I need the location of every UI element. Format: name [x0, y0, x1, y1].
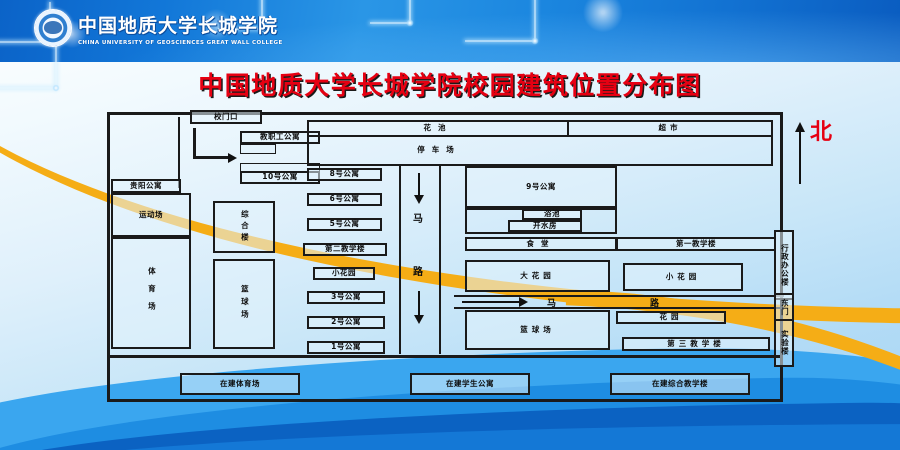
map-supermarket[interactable]: 超市	[569, 121, 771, 135]
road-label-vertical-2: 路	[413, 263, 423, 278]
road-west-edge	[399, 166, 401, 354]
map-boiler-room[interactable]: 开水房	[508, 220, 582, 232]
map-apartment-1[interactable]: 1号公寓	[307, 341, 385, 354]
logo-chinese-name: 中国地质大学长城学院	[78, 11, 283, 38]
poster-stage: 中国地质大学长城学院 CHINA UNIVERSITY OF GEOSCIENC…	[0, 0, 900, 450]
h-road-label-1: 马	[547, 296, 556, 309]
map-guiyang-apartment[interactable]: 贵阳公寓	[111, 179, 181, 193]
map-parking-lot[interactable]: 停车场	[309, 136, 569, 164]
map-under-construction-1[interactable]: 在建学生公寓	[410, 373, 530, 395]
map-basketball-court-left-label: 篮球场	[240, 285, 249, 323]
map-apartment-3[interactable]: 3号公寓	[307, 291, 385, 304]
campus-map: 校门口 教职工公寓 10号公寓 贵阳公寓 运动场 体育场 综合楼 篮球场 8号公…	[107, 112, 783, 402]
h-road-arrow-shaft	[462, 301, 522, 303]
brand-logo: 中国地质大学长城学院 CHINA UNIVERSITY OF GEOSCIENC…	[34, 9, 283, 47]
map-apartment-6[interactable]: 6号公寓	[307, 193, 382, 206]
map-lab-building[interactable]: 实验楼	[774, 319, 794, 367]
road-arrow-down-icon	[414, 195, 424, 204]
map-east-gate[interactable]: 东门	[774, 293, 794, 321]
logo-english-name: CHINA UNIVERSITY OF GEOSCIENCES GREAT WA…	[78, 40, 283, 46]
map-complex-building[interactable]: 综合楼	[213, 201, 275, 253]
map-basketball-court-right[interactable]: 篮球场	[465, 310, 610, 350]
map-small-garden-right[interactable]: 小花园	[623, 263, 743, 291]
road-arrow-down-icon-2	[414, 315, 424, 324]
map-apartment-9[interactable]: 9号公寓	[465, 166, 617, 208]
gate-arrow-icon	[228, 153, 237, 163]
map-east-gate-label: 东门	[780, 299, 789, 316]
south-divider-line	[110, 355, 780, 358]
map-teaching-building-3[interactable]: 第三教学楼	[622, 337, 770, 351]
map-stadium[interactable]: 体育场	[111, 237, 191, 349]
map-lab-building-label: 实验楼	[780, 330, 789, 356]
h-road-top-edge	[454, 295, 784, 297]
map-complex-building-label: 综合楼	[240, 210, 249, 245]
university-seal-icon	[34, 9, 72, 47]
compass-label: 北	[810, 122, 832, 144]
north-arrow-icon	[795, 122, 805, 184]
map-sports-ground[interactable]: 运动场	[111, 193, 191, 237]
map-teaching-building-1[interactable]: 第一教学楼	[616, 237, 776, 251]
map-admin-building[interactable]: 行政办公楼	[774, 230, 794, 300]
road-east-edge	[439, 166, 441, 354]
map-apartment-2[interactable]: 2号公寓	[307, 316, 385, 329]
map-bath-house[interactable]: 浴池	[522, 209, 582, 220]
map-flower-pond[interactable]: 花池	[309, 121, 567, 135]
map-small-garden-mid[interactable]: 小花园	[313, 267, 375, 280]
map-admin-building-label: 行政办公楼	[780, 244, 789, 287]
map-canteen[interactable]: 食堂	[465, 237, 617, 251]
road-label-vertical-1: 马	[413, 210, 423, 225]
map-apartment-8[interactable]: 8号公寓	[307, 168, 382, 181]
map-big-garden[interactable]: 大花园	[465, 260, 610, 292]
page-title: 中国地质大学长城学院校园建筑位置分布图	[0, 66, 900, 102]
map-basketball-court-left[interactable]: 篮球场	[213, 259, 275, 349]
west-boundary-line	[178, 117, 180, 188]
gate-connector-vertical	[193, 128, 196, 158]
map-teaching-building-2[interactable]: 第二教学楼	[303, 243, 387, 256]
map-stadium-label: 体育场	[147, 267, 156, 320]
h-road-arrow-right-icon	[519, 297, 528, 307]
h-road-bottom-edge	[454, 307, 784, 309]
h-road-label-2: 路	[650, 296, 659, 309]
compass-north: 北	[795, 122, 832, 184]
map-under-construction-2[interactable]: 在建综合教学楼	[610, 373, 750, 395]
gate-connector-horizontal	[193, 156, 229, 159]
map-gate[interactable]: 校门口	[190, 110, 262, 124]
map-apartment-5[interactable]: 5号公寓	[307, 218, 382, 231]
map-garden[interactable]: 花园	[616, 311, 726, 324]
map-faculty-apartment-annex[interactable]	[240, 144, 276, 154]
map-under-construction-0[interactable]: 在建体育场	[180, 373, 300, 395]
